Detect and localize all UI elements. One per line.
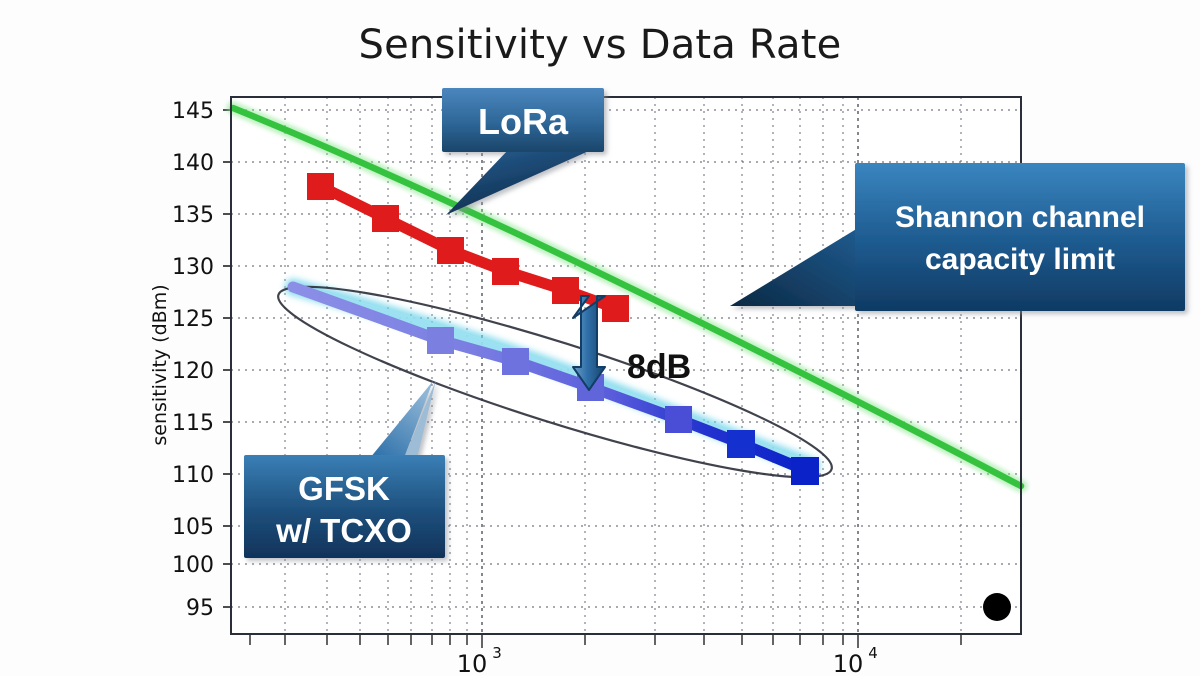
x-tick-exponent-1e4: 4 xyxy=(868,644,878,662)
x-tick-label-1e3: 10 3 xyxy=(457,644,502,676)
data-point xyxy=(502,348,529,375)
y-tick-125: 125 xyxy=(172,307,214,332)
y-tick-105: 105 xyxy=(172,515,214,540)
data-point xyxy=(307,173,334,200)
x-tick-label-1e4: 10 4 xyxy=(833,644,878,676)
data-point xyxy=(602,295,629,322)
y-tick-115: 115 xyxy=(172,411,214,436)
y-tick-130: 130 xyxy=(172,255,214,280)
shannon-callout-line-1: Shannon channel xyxy=(895,201,1145,234)
x-axis-ticks xyxy=(250,634,961,648)
gfsk-callout-line-1: GFSK xyxy=(298,470,390,507)
lora-callout-label: LoRa xyxy=(478,101,569,142)
y-tick-100: 100 xyxy=(172,553,214,578)
y-axis-tick-labels: 145 140 135 130 125 120 115 110 105 100 … xyxy=(172,99,214,621)
data-point xyxy=(665,406,692,433)
corner-dot-mark xyxy=(983,593,1011,621)
y-tick-110: 110 xyxy=(172,463,214,488)
x-tick-mantissa-1e3: 10 xyxy=(457,650,488,676)
data-point xyxy=(552,277,579,304)
delta-arrow-label: 8dB xyxy=(627,348,691,386)
y-tick-120: 120 xyxy=(172,359,214,384)
y-axis-ticks xyxy=(223,110,231,607)
data-point xyxy=(791,457,819,485)
y-tick-95: 95 xyxy=(186,596,214,621)
y-tick-135: 135 xyxy=(172,203,214,228)
data-point xyxy=(437,237,464,264)
y-tick-145: 145 xyxy=(172,99,214,124)
y-axis-label: sensitivity (dBm) xyxy=(149,284,171,445)
data-point xyxy=(372,205,399,232)
sensitivity-vs-data-rate-chart: 145 140 135 130 125 120 115 110 105 100 … xyxy=(0,0,1200,676)
y-tick-140: 140 xyxy=(172,151,214,176)
x-tick-mantissa-1e4: 10 xyxy=(833,650,864,676)
data-point xyxy=(492,258,519,285)
data-point xyxy=(427,327,454,354)
x-tick-exponent-1e3: 3 xyxy=(492,644,502,662)
data-point xyxy=(727,430,755,458)
shannon-callout-line-2: capacity limit xyxy=(925,243,1115,276)
slide-canvas: Sensitivity vs Data Rate xyxy=(0,0,1200,676)
gfsk-callout-line-2: w/ TCXO xyxy=(275,512,412,549)
